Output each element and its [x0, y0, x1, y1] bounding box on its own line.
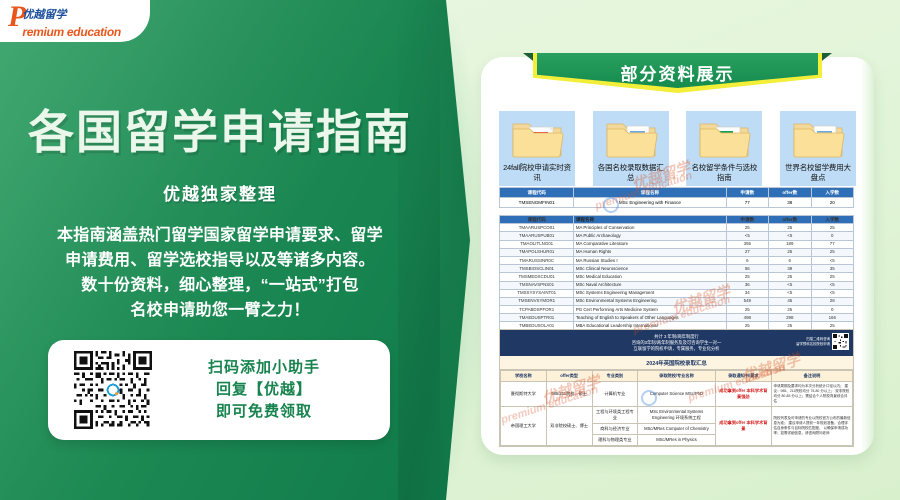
- sheet-banner: 共计 3 年制/两年制度行 咨询的3年制/两年制服务及及可咨询学生一对一 互联留…: [500, 330, 853, 356]
- cell-enrolled: <5: [811, 256, 854, 264]
- cell-applications: 77: [726, 198, 768, 208]
- cell-program: MSc/MRes in Physics: [638, 435, 715, 446]
- cell-course-name: MSc Naval Architecture: [574, 281, 726, 289]
- description-block: 本指南涵盖热门留学国家留学申请要求、留学 申请费用、留学选校指导以及等诸多内容。…: [20, 223, 420, 323]
- cell-course-name: MSc Environmental Systems Engineering: [574, 297, 726, 305]
- table-row: TMSBIOSCLIN01MSc Clinical Neuroscience56…: [500, 265, 854, 273]
- cell-enrolled: 25: [811, 224, 854, 232]
- cell-course-name: MA Russian Studies I: [574, 256, 726, 264]
- table-row: TMAEDUSPTR01Teaching of English to Speak…: [500, 314, 854, 322]
- poster-root: P 优越留学 remium education 各国留学申请指南 优越独家整理 …: [0, 0, 900, 500]
- ribbon-green-layer: 部分资料展示: [537, 53, 818, 88]
- cell-course-code: TMSENVSYMOR1: [500, 297, 574, 305]
- table-row: 曼彻斯特大学 985/211院校、硕士 计算机专业 Computer Scien…: [501, 382, 853, 407]
- cell-course-code: TMARUSSINR0C: [500, 256, 574, 264]
- cell-course-code: TMAOLITLNG01: [500, 240, 574, 248]
- cell-enrolled: 35: [811, 265, 854, 273]
- description-line: 本指南涵盖热门留学国家留学申请要求、留学: [20, 223, 420, 248]
- column-header: 课程名称: [574, 216, 726, 224]
- cell-offer-type: 双非院校硕士、博士: [546, 407, 592, 446]
- cell-major-type: 工程与环境类工程专业: [592, 407, 638, 424]
- cell-offers: 189: [769, 240, 811, 248]
- folder-pdf-icon: P: [509, 115, 565, 161]
- qr-code[interactable]: [74, 351, 152, 429]
- cell-offers: 25: [769, 306, 811, 314]
- cell-school: 帝国理工大学: [501, 407, 547, 446]
- table-header-row: 学校名称 offer类型 专业类别 录取院校/专业名称 录取通知书/要求 备注说…: [501, 371, 853, 382]
- cell-course-name: PG Cert Performing Arts Medicine System: [574, 306, 726, 314]
- folder-label: 各国名校录取数据汇总: [595, 163, 667, 183]
- cell-course-name: Teaching of English to Speakers of Other…: [574, 314, 726, 322]
- sheet-banner-contact-line: 留学预科名校院校申请: [796, 342, 830, 347]
- cell-course-code: TMAPOLSHUR01: [500, 248, 574, 256]
- cell-applications: 549: [726, 297, 768, 305]
- description-line: 申请费用、留学选校指导以及等诸多内容。: [20, 248, 420, 273]
- cell-course-name: MA Comparative Literature: [574, 240, 726, 248]
- description-line: 数十份资料，细心整理，“一站式”打包: [20, 273, 420, 298]
- folder-label: 24fall院校申请实时资讯: [501, 163, 573, 183]
- column-header: 申请数: [726, 188, 768, 198]
- table-header-row: 课程代码 课程名称 申请数 offer数 入学数: [500, 188, 854, 198]
- cell-course-name: MSc Systems Engineering Management: [574, 289, 726, 297]
- table-body: 曼彻斯特大学 985/211院校、硕士 计算机专业 Computer Scien…: [501, 382, 853, 446]
- cell-course-code: TMSBIOSCLIN01: [500, 265, 574, 273]
- data-sheet-admissions: 共计 3 年制/两年制度行 咨询的3年制/两年制服务及及可咨询学生一对一 互联留…: [499, 329, 854, 447]
- folder-doc-icon: [603, 115, 659, 161]
- qr-cta-line: 扫码添加小助手: [152, 357, 376, 379]
- cell-applications: 56: [726, 265, 768, 273]
- folder-tile-list: P 24fall院校申请实时资讯 各国名校录取数据汇总: [499, 111, 856, 186]
- data-sheet-top-table: 课程代码 课程名称 申请数 offer数 入学数 TMSENGMFIN01 MS…: [499, 187, 854, 208]
- description-line: 名校申请助您一臂之力！: [20, 298, 420, 323]
- column-header: 入学数: [811, 188, 854, 198]
- brand-logo: P 优越留学 remium education: [0, 0, 150, 42]
- column-header: 录取通知书/要求: [715, 371, 771, 382]
- column-header: 备注说明: [772, 371, 853, 382]
- cell-course-code: TMAARUSPUB01: [500, 232, 574, 240]
- cell-offers: 25: [769, 248, 811, 256]
- cell-course-name: MSc Clinical Neuroscience: [574, 265, 726, 273]
- cell-applications: <5: [726, 232, 768, 240]
- column-header: 专业类别: [592, 371, 638, 382]
- cell-program: MSc/MRes Computer of Chemistry: [638, 424, 715, 435]
- folder-tile[interactable]: P 24fall院校申请实时资讯: [499, 111, 575, 186]
- folder-tile[interactable]: S 名校留学条件与选校指南: [686, 111, 762, 186]
- cell-applications: 498: [726, 314, 768, 322]
- cell-major-type: 计算机专业: [592, 382, 638, 407]
- page-subtitle: 优越独家整理: [163, 180, 277, 205]
- cell-course-code: TMAEDUSPTR01: [500, 314, 574, 322]
- cell-enrolled: 28: [811, 297, 854, 305]
- column-header: offer类型: [546, 371, 592, 382]
- cell-course-code: TCPABDSPFOR1: [500, 306, 574, 314]
- folder-label: 名校留学条件与选校指南: [688, 163, 760, 183]
- cell-requirement: 成功拿到offer 本科学术背景强劲: [715, 382, 771, 407]
- table-row: TMSENVSYMOR1MSc Environmental Systems En…: [500, 297, 854, 305]
- qr-cta-line: 即可免费领取: [152, 401, 376, 423]
- cell-enrolled: <5: [811, 289, 854, 297]
- mini-qr-svg: [833, 334, 848, 349]
- cell-school: 曼彻斯特大学: [501, 382, 547, 407]
- table-row: TMAARUSPCO01MA Principles of Conservatio…: [500, 224, 854, 232]
- cell-course-name: MSc Medical Education: [574, 273, 726, 281]
- logo-english-name: remium education: [22, 25, 121, 39]
- folder-tile[interactable]: 世界名校留学费用大盘点: [780, 111, 856, 186]
- cell-note: 院校列表及可申请的专业以院校官方公布的最新信息为准； 建议申请人提前一年规划准备…: [772, 407, 853, 446]
- qr-cta-card[interactable]: 扫码添加小助手 回复【优越】 即可免费领取: [48, 340, 390, 440]
- table-row: TMAARUSPUB01MA Public Archaeology<5<50: [500, 232, 854, 240]
- cell-applications: 6: [726, 256, 768, 264]
- cell-offers: 6: [769, 256, 811, 264]
- cell-enrolled: 166: [811, 314, 854, 322]
- cell-applications: 355: [726, 240, 768, 248]
- cell-enrolled: <5: [811, 281, 854, 289]
- cell-applications: 25: [726, 306, 768, 314]
- qr-cta-text: 扫码添加小助手 回复【优越】 即可免费领取: [152, 357, 390, 423]
- cell-course-code: TMSNAVSPNS01: [500, 281, 574, 289]
- cell-offers: <5: [769, 232, 811, 240]
- column-header: offer数: [769, 188, 811, 198]
- table-row: TMARUSSINR0CMA Russian Studies I66<5: [500, 256, 854, 264]
- cell-program: Computer Science MSc/PhD: [638, 382, 715, 407]
- column-header: 课程代码: [500, 216, 574, 224]
- materials-preview-card: P 24fall院校申请实时资讯 各国名校录取数据汇总: [481, 57, 874, 455]
- cell-course-code: TMSMEDSCDU01: [500, 273, 574, 281]
- cell-applications: 27: [726, 248, 768, 256]
- table-header-row: 课程代码 课程名称 申请数 offer数 入学数: [500, 216, 854, 224]
- cell-enrolled: 0: [811, 232, 854, 240]
- cell-offers: <5: [769, 281, 811, 289]
- cell-enrolled: 25: [811, 273, 854, 281]
- table-row: TMSMEDSCDU01MSc Medical Education252525: [500, 273, 854, 281]
- table-row: 帝国理工大学 双非院校硕士、博士 工程与环境类工程专业 MSc Environm…: [501, 407, 853, 424]
- logo-chinese-name: 优越留学: [22, 9, 66, 21]
- table-row: TCPABDSPFOR1PG Cert Performing Arts Medi…: [500, 306, 854, 314]
- column-header: 课程代码: [500, 188, 574, 198]
- cell-course-code: TMAARUSPCO01: [500, 224, 574, 232]
- qr-cta-line: 回复【优越】: [152, 379, 376, 401]
- column-header: offer数: [769, 216, 811, 224]
- folder-excel-icon: S: [696, 115, 752, 161]
- folder-label: 世界名校留学费用大盘点: [782, 163, 854, 183]
- column-header: 课程名称: [574, 188, 726, 198]
- ribbon-title: 部分资料展示: [621, 60, 735, 85]
- cell-course-name: MA Human Rights: [574, 248, 726, 256]
- cell-applications: 36: [726, 281, 768, 289]
- table-row: TMAPOLSHUR01MA Human Rights272525: [500, 248, 854, 256]
- folder-doc-icon: [790, 115, 846, 161]
- cell-course-name: MA Principles of Conservation: [574, 224, 726, 232]
- cell-course-code: TMSENGMFIN01: [500, 198, 574, 208]
- cell-offer-type: 985/211院校、硕士: [546, 382, 592, 407]
- column-header: 学校名称: [501, 371, 547, 382]
- cell-course-name: MA Public Archaeology: [574, 232, 726, 240]
- qr-code-svg: [74, 351, 152, 429]
- table-row: TMSNAVSPNS01MSc Naval Architecture36<5<5: [500, 281, 854, 289]
- cell-program: MSc Environmental Systems Engineering 环境…: [638, 407, 715, 424]
- cell-note: 申请周期及要求均为本次分析统计口径以内； 建议：985、211院校均分 75-8…: [772, 382, 853, 407]
- cell-offers: 45: [769, 297, 811, 305]
- folder-tile[interactable]: 各国名校录取数据汇总: [593, 111, 669, 186]
- cell-enrolled: 25: [811, 248, 854, 256]
- cell-offers: 298: [769, 314, 811, 322]
- cell-enrolled: 20: [811, 198, 854, 208]
- cell-applications: 34: [726, 289, 768, 297]
- sheet-banner-line: 互联留学的院校申请，专属服务，专业化分析: [632, 346, 722, 352]
- cell-major-type: 理科与物理类专业: [592, 435, 638, 446]
- section-ribbon: 部分资料展示: [533, 53, 822, 93]
- cell-applications: 25: [726, 273, 768, 281]
- cell-offers: <5: [769, 289, 811, 297]
- table-row: TMSENGMFIN01 MSc Engineering with Financ…: [500, 198, 854, 208]
- sheet-banner-contact: 扫描二维码咨询 留学预科名校院校申请: [796, 333, 849, 350]
- cell-requirement: 成功拿到offer 本科学术背景: [715, 407, 771, 446]
- cell-offers: 39: [769, 265, 811, 273]
- cell-enrolled: 77: [811, 240, 854, 248]
- cell-offers: 38: [769, 198, 811, 208]
- mini-qr-code[interactable]: [832, 333, 849, 350]
- table-row: TMSSYSYSAINT01MSc Systems Engineering Ma…: [500, 289, 854, 297]
- table-row: TMAOLITLNG01MA Comparative Literature355…: [500, 240, 854, 248]
- qr-center-badge: [106, 383, 119, 396]
- card-edge-sheen: [861, 57, 874, 455]
- data-sheet-top: 课程代码 课程名称 申请数 offer数 入学数 TMSENGMFIN01 MS…: [499, 187, 854, 208]
- column-header: 入学数: [811, 216, 854, 224]
- page-title: 各国留学申请指南: [28, 96, 412, 162]
- cell-enrolled: 0: [811, 306, 854, 314]
- cell-offers: 25: [769, 224, 811, 232]
- sheet-title: 2024年英国院校录取汇总: [500, 356, 853, 370]
- cell-course-name: MSc Engineering with Finance: [574, 198, 726, 208]
- cell-course-code: TMSSYSYSAINT01: [500, 289, 574, 297]
- column-header: 申请数: [726, 216, 768, 224]
- admissions-table: 学校名称 offer类型 专业类别 录取院校/专业名称 录取通知书/要求 备注说…: [500, 370, 853, 446]
- cell-applications: 25: [726, 224, 768, 232]
- column-header: 录取院校/专业名称: [638, 371, 715, 382]
- cell-offers: 25: [769, 273, 811, 281]
- cell-major-type: 商科与经济专业: [592, 424, 638, 435]
